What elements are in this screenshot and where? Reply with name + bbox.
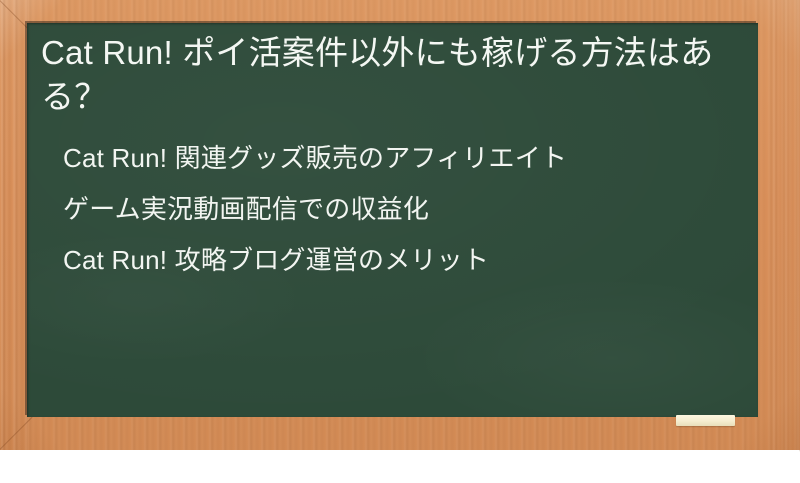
frame-miter-seam-bottom-left xyxy=(0,417,33,450)
frame-grain-left xyxy=(0,0,28,450)
list-item: ゲーム実況動画配信での収益化 xyxy=(63,192,740,227)
chalkboard-frame: Cat Run! ポイ活案件以外にも稼げる方法はある？ Cat Run! 関連グ… xyxy=(0,0,800,450)
chalk-stick-icon xyxy=(676,415,735,426)
frame-grain-right xyxy=(772,0,800,450)
list-item: Cat Run! 攻略ブログ運営のメリット xyxy=(63,243,740,278)
list-item: Cat Run! 関連グッズ販売のアフィリエイト xyxy=(63,141,740,176)
page-title: Cat Run! ポイ活案件以外にも稼げる方法はある？ xyxy=(35,31,740,119)
topic-list: Cat Run! 関連グッズ販売のアフィリエイト ゲーム実況動画配信での収益化 … xyxy=(35,141,740,278)
slide-content: Cat Run! ポイ活案件以外にも稼げる方法はある？ Cat Run! 関連グ… xyxy=(27,23,758,278)
chalkboard-surface: Cat Run! ポイ活案件以外にも稼げる方法はある？ Cat Run! 関連グ… xyxy=(27,23,758,417)
